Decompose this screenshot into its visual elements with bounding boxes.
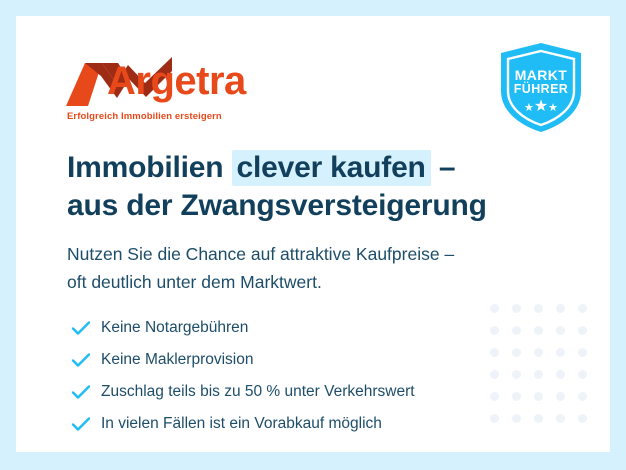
decorative-dot (556, 304, 565, 313)
headline-highlight: clever kaufen (232, 150, 431, 186)
star-icon-left: ★ (524, 102, 534, 114)
ad-banner: Argetra Erfolgreich Immobilien ersteiger… (0, 0, 626, 470)
decorative-dot (578, 414, 587, 423)
benefit-list: Keine Notargebühren Keine Maklerprovisio… (71, 313, 541, 441)
benefit-label: Keine Notargebühren (101, 319, 248, 338)
decorative-dot (578, 392, 587, 401)
badge-stars: ★★★ (493, 99, 589, 115)
headline-text-before: Immobilien (67, 151, 232, 184)
benefit-label: Keine Maklerprovision (101, 351, 254, 370)
logo-wordmark: Argetra (107, 61, 246, 101)
market-leader-badge: MARKT FÜHRER ★★★ (493, 39, 589, 135)
subheading: Nutzen Sie die Chance auf attraktive Kau… (67, 240, 587, 297)
headline-line-1: Immobilien clever kaufen – (67, 149, 587, 187)
list-item: Keine Notargebühren (71, 313, 541, 343)
check-icon (71, 413, 101, 435)
decorative-dot (490, 304, 499, 313)
star-icon-center: ★ (534, 98, 548, 115)
badge-line-2: FÜHRER (493, 83, 589, 96)
subheading-line-1: Nutzen Sie die Chance auf attraktive Kau… (67, 240, 587, 268)
check-icon (71, 381, 101, 403)
benefit-label: Zuschlag teils bis zu 50 % unter Verkehr… (101, 383, 415, 402)
decorative-dot (534, 304, 543, 313)
subheading-line-2: oft deutlich unter dem Marktwert. (67, 268, 587, 296)
decorative-dot (578, 370, 587, 379)
list-item: Zuschlag teils bis zu 50 % unter Verkehr… (71, 377, 541, 407)
decorative-dot (578, 326, 587, 335)
decorative-dot (556, 392, 565, 401)
check-icon (71, 349, 101, 371)
logo-tagline: Erfolgreich Immobilien ersteigern (67, 111, 222, 122)
star-icon-right: ★ (548, 102, 558, 114)
list-item: Keine Maklerprovision (71, 345, 541, 375)
ad-card: Argetra Erfolgreich Immobilien ersteiger… (16, 16, 610, 452)
decorative-dot (556, 414, 565, 423)
list-item: In vielen Fällen ist ein Vorabkauf mögli… (71, 409, 541, 439)
decorative-dot (512, 304, 521, 313)
headline: Immobilien clever kaufen – aus der Zwang… (67, 149, 587, 226)
headline-text-after: – (431, 151, 456, 184)
badge-line-1: MARKT (493, 68, 589, 82)
decorative-dot (556, 326, 565, 335)
check-icon (71, 317, 101, 339)
decorative-dot (556, 370, 565, 379)
benefit-label: In vielen Fällen ist ein Vorabkauf mögli… (101, 415, 382, 434)
brand-logo[interactable]: Argetra Erfolgreich Immobilien ersteiger… (56, 45, 256, 131)
decorative-dot (556, 348, 565, 357)
decorative-dot (578, 304, 587, 313)
decorative-dot (578, 348, 587, 357)
headline-line-2: aus der Zwangsversteigerung (67, 187, 587, 225)
